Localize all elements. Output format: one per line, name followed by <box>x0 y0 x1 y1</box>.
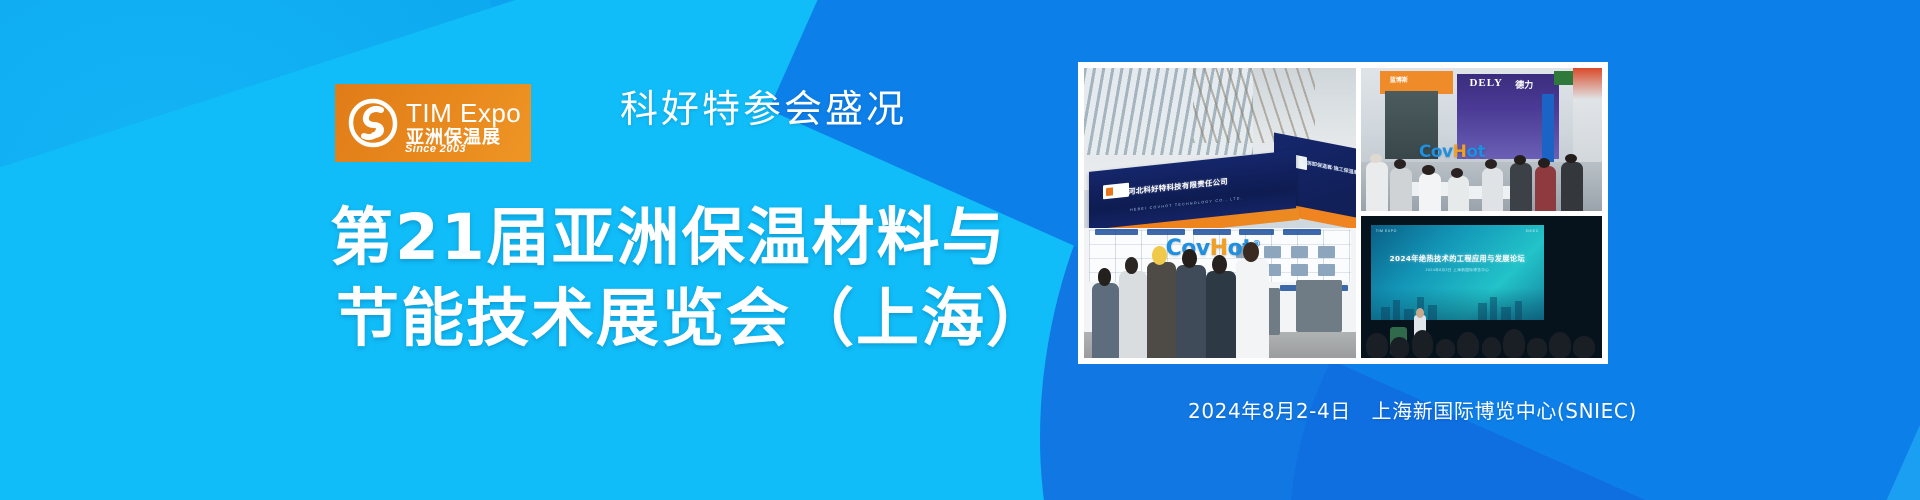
audience-head <box>1573 336 1595 358</box>
forum-screen-subtitle: 2024年8月2日 上海新国际博览中心 <box>1388 268 1527 273</box>
forum-screen-title: 2024年绝热技术的工程应用与发展论坛 <box>1385 254 1531 264</box>
visitor-figure <box>1366 162 1388 210</box>
visitor-head <box>1098 268 1112 285</box>
audience-head <box>1390 337 1409 358</box>
poster-thumb <box>1291 264 1308 276</box>
photo-exhibition-booth: 可拆卸保温套·施工保温套 河北科好特科技有限责任公司 HEBEI COVHOT … <box>1084 68 1356 358</box>
covhot-wm-part2: H <box>1453 142 1467 162</box>
audience-head <box>1436 339 1455 358</box>
booth-machine <box>1296 280 1342 332</box>
poster-tag <box>1147 229 1185 235</box>
covhot-wm-part3: ot <box>1466 142 1485 162</box>
visitor-head <box>1514 155 1526 165</box>
visitor-figure <box>1147 262 1177 358</box>
poster-thumb <box>1318 264 1335 276</box>
event-date-venue: 2024年8月2-4日 上海新国际博览中心(SNIEC) <box>1188 395 1637 424</box>
visitor-head <box>1565 154 1577 164</box>
audience-head <box>1412 330 1434 358</box>
covhot-wm-part1: Cov <box>1419 142 1453 162</box>
visitor-figure <box>1176 265 1206 358</box>
headline-line-1: 第21届亚洲保温材料与 <box>330 198 1051 279</box>
visitor-figure <box>1535 166 1557 210</box>
poster-thumb <box>1291 246 1308 258</box>
covhot-watermark: CovHot <box>1419 142 1485 162</box>
audience-head <box>1482 337 1501 358</box>
audience-head <box>1549 332 1571 359</box>
visitor-figure <box>1510 163 1532 210</box>
poster-thumb <box>1318 246 1335 258</box>
visitor-head <box>1538 158 1550 168</box>
audience-head <box>1457 332 1479 358</box>
visitor-figure <box>1448 176 1470 210</box>
visitor-head <box>1182 249 1197 268</box>
visitor-figure <box>1092 283 1119 358</box>
roof-truss <box>1193 68 1315 143</box>
visitor-figure <box>1390 168 1412 211</box>
audience-head <box>1527 338 1546 358</box>
swirl-logo-icon <box>347 97 399 149</box>
photo-collage: 可拆卸保温套·施工保温套 河北科好特科技有限责任公司 HEBEI COVHOT … <box>1078 62 1608 364</box>
logo-title: TIM Expo <box>406 100 521 126</box>
dely-brand-text-cn: 德力 <box>1515 78 1533 91</box>
photo-crowd-aisle: 蓝博斯 DELY 德力 <box>1361 68 1602 211</box>
visitor-head <box>1212 255 1227 274</box>
visitor-figure <box>1561 162 1583 210</box>
visitor-figure <box>1419 173 1441 210</box>
forum-audience <box>1361 315 1602 358</box>
screen-corner-label-left: TIM EXPO <box>1376 229 1397 233</box>
collage-right-column: 蓝博斯 DELY 德力 <box>1361 68 1602 358</box>
poster-tag <box>1239 229 1274 235</box>
visitor-figure <box>1206 271 1236 358</box>
banner-subtitle: 科好特参会盛况 <box>620 78 907 133</box>
dely-brand-text: DELY <box>1469 77 1503 89</box>
poster-tag <box>1193 229 1231 235</box>
visitor-head <box>1394 159 1406 169</box>
logo-text-block: TIM Expo 亚洲保温展 <box>406 100 521 147</box>
screen-corner-label-right: SNIEC <box>1526 229 1539 233</box>
poster-thumb <box>1264 246 1281 258</box>
visitor-head <box>1370 154 1382 164</box>
visitor-figure <box>1482 168 1504 211</box>
bg-light-cyan-sweep-secondary <box>1690 0 1920 500</box>
exhibition-banner: TIM Expo 亚洲保温展 Since 2003 科好特参会盛况 第21届亚洲… <box>0 0 1920 500</box>
booth-logo-chip <box>1103 183 1129 200</box>
visitor-figure <box>1119 271 1146 358</box>
forum-led-screen: TIM EXPO SNIEC 2024年绝热技术的工程应用与发展论坛 2024年… <box>1371 225 1545 319</box>
visitor-head <box>1422 165 1434 175</box>
audience-head <box>1366 333 1388 358</box>
photo-forum-stage: TIM EXPO SNIEC 2024年绝热技术的工程应用与发展论坛 2024年… <box>1361 216 1602 359</box>
poster-tag <box>1283 229 1321 235</box>
tim-expo-logo[interactable]: TIM Expo 亚洲保温展 Since 2003 <box>335 84 531 162</box>
audience-head <box>1503 329 1525 358</box>
visitor-figure <box>1236 259 1269 358</box>
logo-since-text: Since 2003 <box>405 143 466 155</box>
poster-tag <box>1095 229 1139 235</box>
neighbor-booth-sign-text: 蓝博斯 <box>1390 75 1408 84</box>
banner-headline: 第21届亚洲保温材料与 节能技术展览会（上海） <box>330 198 1051 359</box>
headline-line-2: 节能技术展览会（上海） <box>330 279 1051 360</box>
